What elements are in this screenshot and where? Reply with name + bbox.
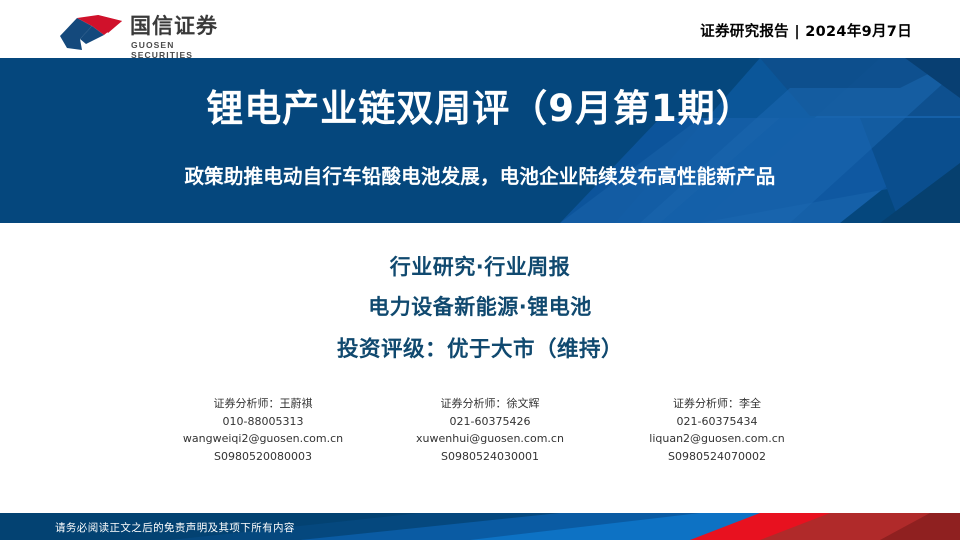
research-category: 行业研究·行业周报	[0, 251, 960, 281]
analyst-phone: 021-60375426	[377, 413, 603, 431]
analyst-license: S0980524030001	[377, 448, 603, 466]
banner-geometric-pattern	[0, 58, 960, 223]
analyst-license: S0980524070002	[604, 448, 830, 466]
analyst-card: 证券分析师：李全 021-60375434 liquan2@guosen.com…	[604, 395, 830, 465]
report-type-date-label: 证券研究报告 | 2024年9月7日	[700, 20, 912, 41]
analyst-list: 证券分析师：王蔚祺 010-88005313 wangweiqi2@guosen…	[150, 395, 830, 465]
analyst-email[interactable]: xuwenhui@guosen.com.cn	[377, 430, 603, 448]
cover-body: 行业研究·行业周报 电力设备新能源·锂电池 投资评级：优于大市（维持） 证券分析…	[0, 223, 960, 513]
report-subtitle: 政策助推电动自行车铅酸电池发展，电池企业陆续发布高性能新产品	[0, 163, 960, 191]
analyst-card: 证券分析师：徐文辉 021-60375426 xuwenhui@guosen.c…	[377, 395, 603, 465]
footer-disclaimer: 请务必阅读正文之后的免责声明及其项下所有内容	[55, 520, 295, 535]
guosen-diamond-logo-icon	[58, 15, 124, 53]
industry-sector: 电力设备新能源·锂电池	[0, 291, 960, 321]
title-banner: 锂电产业链双周评（9月第1期） 政策助推电动自行车铅酸电池发展，电池企业陆续发布…	[0, 58, 960, 223]
page-header: 国信证券 GUOSEN SECURITIES 证券研究报告 | 2024年9月7…	[0, 0, 960, 58]
analyst-name: 证券分析师：王蔚祺	[150, 395, 376, 413]
report-cover-page: 国信证券 GUOSEN SECURITIES 证券研究报告 | 2024年9月7…	[0, 0, 960, 540]
logo-chinese-name: 国信证券	[130, 14, 218, 38]
analyst-license: S0980520080003	[150, 448, 376, 466]
analyst-card: 证券分析师：王蔚祺 010-88005313 wangweiqi2@guosen…	[150, 395, 376, 465]
analyst-phone: 021-60375434	[604, 413, 830, 431]
analyst-email[interactable]: wangweiqi2@guosen.com.cn	[150, 430, 376, 448]
investment-rating: 投资评级：优于大市（维持）	[0, 332, 960, 363]
analyst-name: 证券分析师：徐文辉	[377, 395, 603, 413]
page-footer: 请务必阅读正文之后的免责声明及其项下所有内容	[0, 513, 960, 540]
analyst-email[interactable]: liquan2@guosen.com.cn	[604, 430, 830, 448]
analyst-name: 证券分析师：李全	[604, 395, 830, 413]
logo-english-name: GUOSEN SECURITIES	[131, 40, 233, 60]
company-logo: 国信证券 GUOSEN SECURITIES	[58, 13, 233, 55]
report-title: 锂电产业链双周评（9月第1期）	[0, 85, 960, 133]
analyst-phone: 010-88005313	[150, 413, 376, 431]
